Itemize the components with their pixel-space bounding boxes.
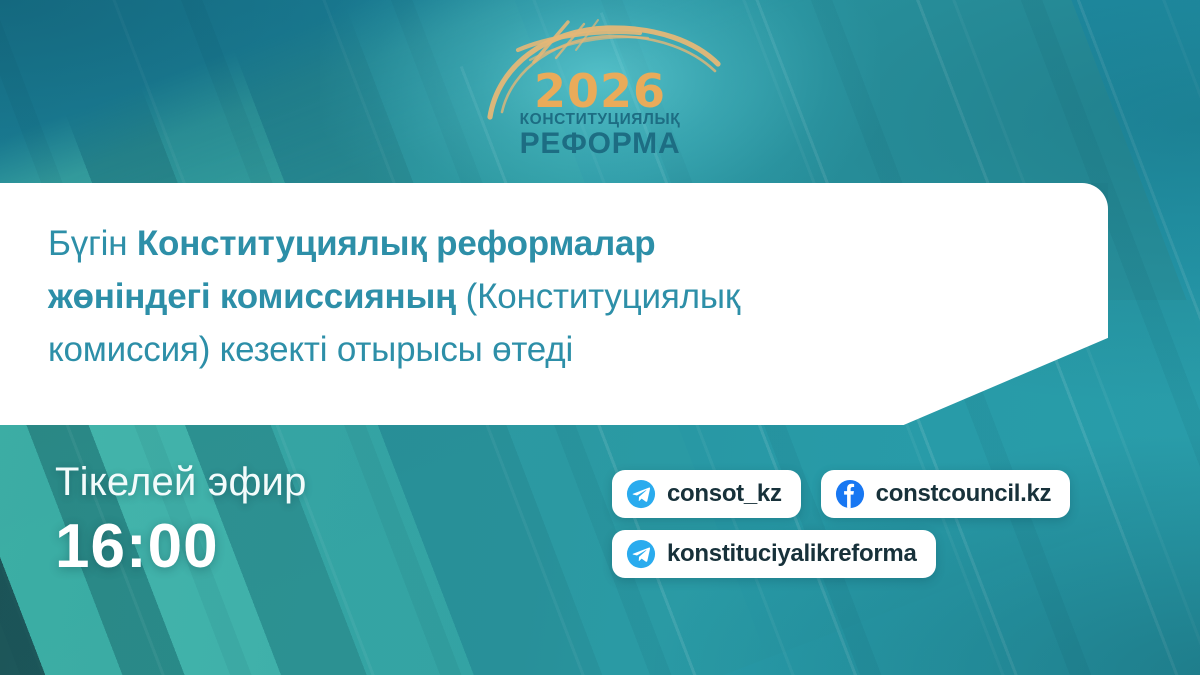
headline-line1-light: Бүгін: [48, 224, 137, 263]
logo-year: 2026: [480, 64, 720, 118]
headline-card-inner: Бүгін Конституциялық реформалар жөніндег…: [48, 217, 1068, 377]
social-links: consot_kz constcouncil.kz konstituciyali…: [612, 470, 1132, 590]
social-row-2: konstituciyalikreforma: [612, 530, 1132, 578]
headline-line3: комиссия) кезекті отырысы өтеді: [48, 330, 573, 369]
social-row-1: consot_kz constcouncil.kz: [612, 470, 1132, 518]
telegram-icon: [626, 479, 656, 509]
live-label: Тікелей эфир: [55, 462, 307, 502]
headline-card: Бүгін Конституциялық реформалар жөніндег…: [0, 183, 1108, 425]
live-broadcast-block: Тікелей эфир 16:00: [55, 462, 307, 578]
headline-line1-bold: Конституциялық реформалар: [137, 224, 656, 263]
facebook-icon: [835, 479, 865, 509]
social-badge-telegram-konstituciyalikreforma[interactable]: konstituciyalikreforma: [612, 530, 936, 578]
telegram-icon: [626, 539, 656, 569]
headline-text: Бүгін Конституциялық реформалар жөніндег…: [48, 217, 1068, 377]
social-badge-label: constcouncil.kz: [876, 480, 1052, 508]
logo-subtitle-2: РЕФОРМА: [480, 127, 720, 161]
social-badge-facebook-constcouncil-kz[interactable]: constcouncil.kz: [821, 470, 1071, 518]
social-badge-label: consot_kz: [667, 480, 782, 508]
social-badge-telegram-consot-kz[interactable]: consot_kz: [612, 470, 801, 518]
constitutional-reform-logo: 2026 КОНСТИТУЦИЯЛЫҚ РЕФОРМА: [480, 16, 720, 166]
headline-line2-light: (Конституциялық: [466, 277, 740, 316]
social-badge-label: konstituciyalikreforma: [667, 540, 917, 568]
headline-line2-bold: жөніндегі комиссияның: [48, 277, 466, 316]
broadcast-announcement-banner: 2026 КОНСТИТУЦИЯЛЫҚ РЕФОРМА Бүгін Консти…: [0, 0, 1200, 675]
live-time: 16:00: [55, 516, 307, 578]
